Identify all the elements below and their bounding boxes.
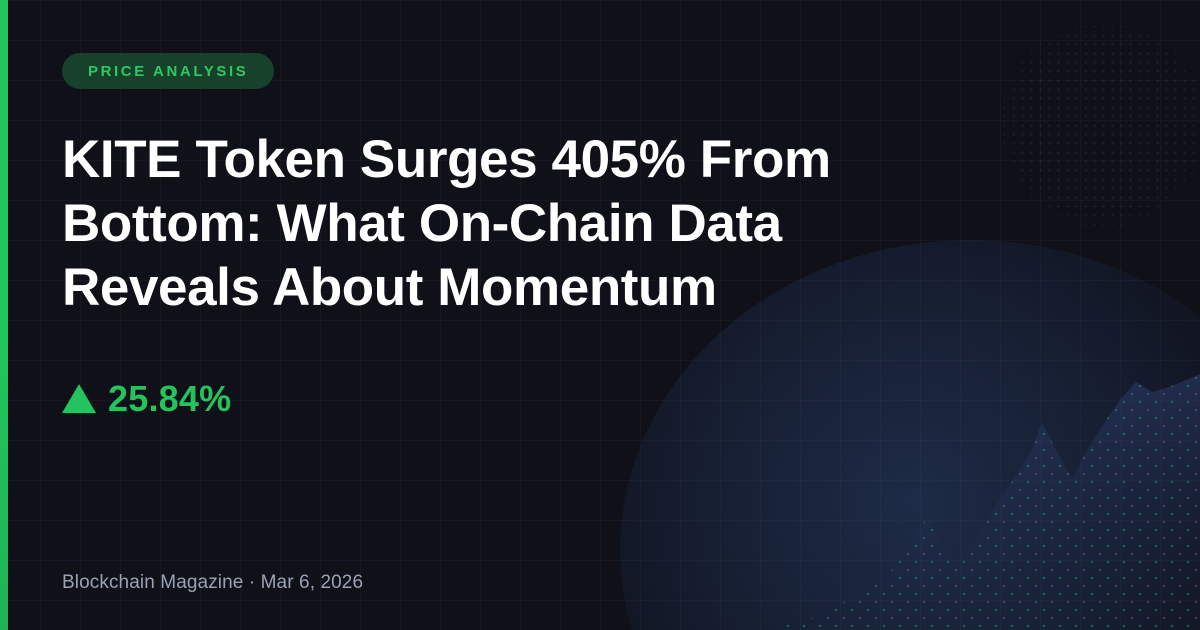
social-share-card: PRICE ANALYSIS KITE Token Surges 405% Fr…: [0, 0, 1200, 630]
card-content: PRICE ANALYSIS KITE Token Surges 405% Fr…: [62, 0, 1140, 630]
page-title: KITE Token Surges 405% From Bottom: What…: [62, 128, 942, 320]
headline-line-1: KITE Token Surges 405% From: [62, 128, 942, 192]
headline-line-2: Bottom: What On-Chain Data: [62, 192, 942, 256]
price-change-value: 25.84%: [108, 378, 231, 420]
price-change-indicator: 25.84%: [62, 378, 231, 420]
category-badge: PRICE ANALYSIS: [62, 53, 274, 89]
footer-attribution: Blockchain Magazine · Mar 6, 2026: [62, 572, 363, 594]
triangle-up-icon: [62, 384, 96, 413]
left-accent-bar: [0, 0, 8, 630]
headline-line-3: Reveals About Momentum: [62, 256, 942, 320]
